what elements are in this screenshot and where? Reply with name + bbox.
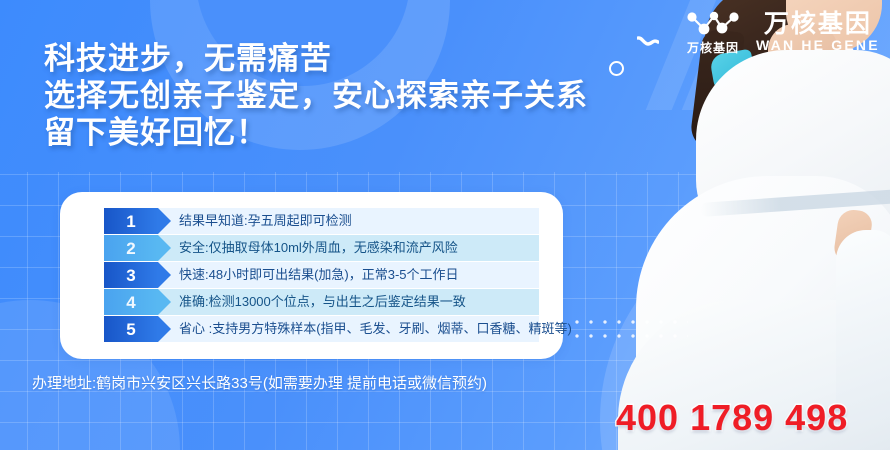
feature-list: 1结果早知道:孕五周起即可检测2安全:仅抽取母体10ml外周血，无感染和流产风险… bbox=[104, 208, 539, 343]
feature-text: 结果早知道:孕五周起即可检测 bbox=[179, 208, 352, 234]
phone-number: 400 1789 498 bbox=[616, 400, 848, 436]
arm-shape bbox=[836, 230, 890, 420]
logo-name-cn: 万核基因 bbox=[764, 11, 872, 37]
feature-row: 1结果早知道:孕五周起即可检测 bbox=[104, 208, 539, 234]
feature-number-badge: 5 bbox=[104, 316, 158, 342]
molecule-icon bbox=[684, 10, 742, 40]
feature-row: 3快速:48小时即可出结果(加急)，正常3-5个工作日 bbox=[104, 262, 539, 288]
headline: 科技进步，无需痛苦 选择无创亲子鉴定，安心探索亲子关系 留下美好回忆！ bbox=[44, 40, 588, 151]
squiggle-icon bbox=[637, 36, 659, 52]
feature-row: 2安全:仅抽取母体10ml外周血，无感染和流产风险 bbox=[104, 235, 539, 261]
feature-number-badge: 3 bbox=[104, 262, 158, 288]
logo-mark: 万核基因 bbox=[684, 10, 742, 54]
address-text: 办理地址:鹤岗市兴安区兴长路33号(如需要办理 提前电话或微信预约) bbox=[32, 374, 487, 394]
headline-line-3: 留下美好回忆！ bbox=[44, 114, 588, 151]
promo-banner: 万核基因 万核基因 WAN HE GENE 科技进步，无需痛苦 选择无创亲子鉴定… bbox=[0, 0, 890, 450]
feature-text: 快速:48小时即可出结果(加急)，正常3-5个工作日 bbox=[179, 262, 459, 288]
feature-row: 4准确:检测13000个位点，与出生之后鉴定结果一致 bbox=[104, 289, 539, 315]
logo-name-en: WAN HE GENE bbox=[756, 38, 880, 53]
pregnant-woman-photo bbox=[600, 0, 890, 450]
feature-text: 安全:仅抽取母体10ml外周血，无感染和流产风险 bbox=[179, 235, 458, 261]
feature-text: 省心 :支持男方特殊样本(指甲、毛发、牙刷、烟蒂、口香糖、精斑等) bbox=[179, 316, 572, 342]
logo-wordmark: 万核基因 WAN HE GENE bbox=[756, 11, 880, 54]
feature-number-badge: 2 bbox=[104, 235, 158, 261]
ring-circle-icon bbox=[609, 61, 624, 76]
dot-grid-icon bbox=[570, 315, 688, 348]
headline-line-1: 科技进步，无需痛苦 bbox=[44, 40, 588, 77]
logo-mark-label: 万核基因 bbox=[687, 42, 739, 54]
feature-number-badge: 4 bbox=[104, 289, 158, 315]
feature-row: 5省心 :支持男方特殊样本(指甲、毛发、牙刷、烟蒂、口香糖、精斑等) bbox=[104, 316, 539, 342]
brand-logo: 万核基因 万核基因 WAN HE GENE bbox=[684, 10, 880, 54]
feature-number-badge: 1 bbox=[104, 208, 158, 234]
feature-text: 准确:检测13000个位点，与出生之后鉴定结果一致 bbox=[179, 289, 466, 315]
feature-card: 1结果早知道:孕五周起即可检测2安全:仅抽取母体10ml外周血，无感染和流产风险… bbox=[60, 192, 563, 359]
headline-line-2: 选择无创亲子鉴定，安心探索亲子关系 bbox=[44, 77, 588, 114]
